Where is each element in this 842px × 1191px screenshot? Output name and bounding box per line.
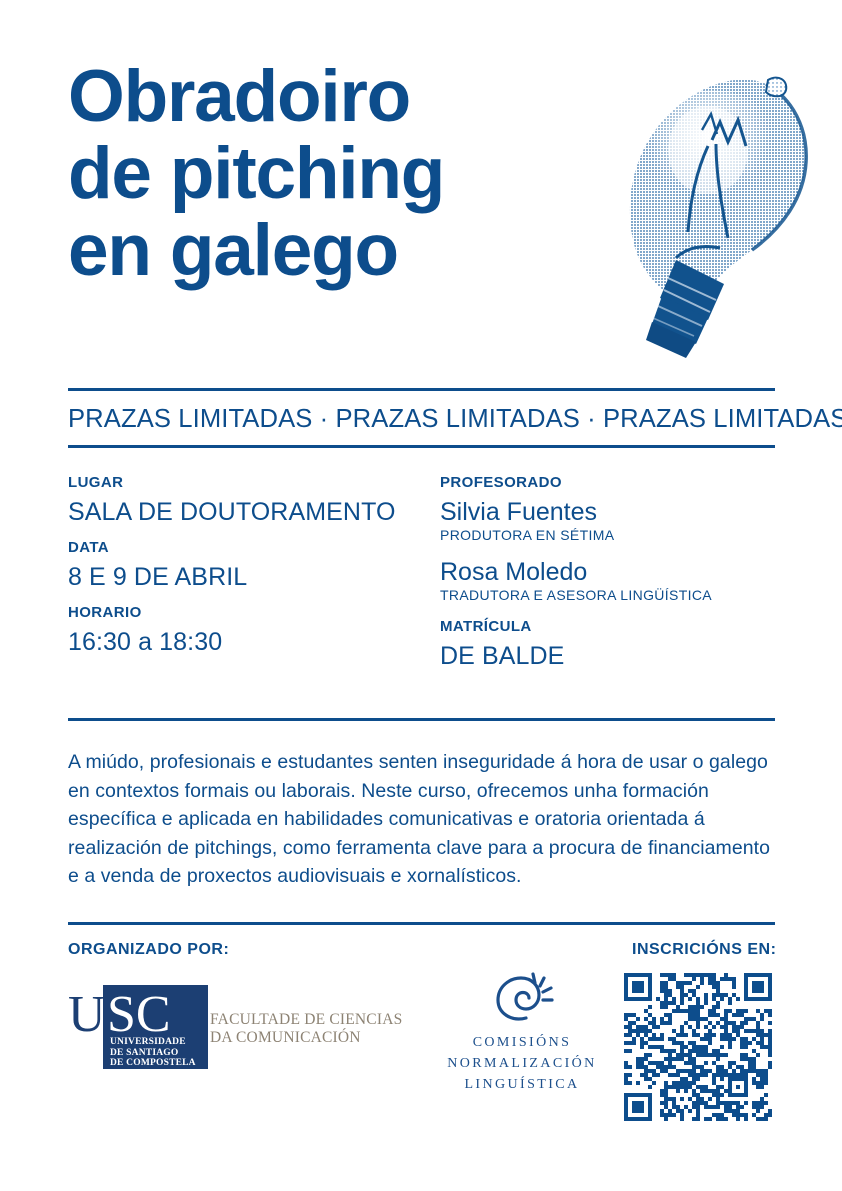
- usc-logo: U SC UNIVERSIDADE DE SANTIAGO DE COMPOST…: [68, 985, 208, 1069]
- divider-top: [68, 388, 775, 391]
- usc-logo-box: SC UNIVERSIDADE DE SANTIAGO DE COMPOSTEL…: [103, 985, 208, 1069]
- description-paragraph: A miúdo, profesionais e estudantes sente…: [68, 748, 780, 891]
- cnl-logo: COMISIÓNS NORMALIZACIÓN LINGUÍSTICA: [432, 968, 612, 1093]
- spiral-rays-icon: [489, 968, 555, 1030]
- title-line-3: en galego: [68, 212, 628, 289]
- teacher-name-2: Rosa Moledo: [440, 558, 780, 586]
- divider-above-description: [68, 718, 775, 721]
- faculty-line-2: DA COMUNICACIÓN: [210, 1029, 430, 1047]
- details-right-column: PROFESORADO Silvia Fuentes PRODUTORA EN …: [440, 474, 780, 671]
- teacher-role-1: PRODUTORA EN SÉTIMA: [440, 526, 780, 544]
- divider-under-banner: [68, 445, 775, 448]
- title-line-1: Obradoiro: [68, 58, 628, 135]
- cnl-line-2: NORMALIZACIÓN: [432, 1055, 612, 1072]
- faculty-name: FACULTADE DE CIENCIAS DA COMUNICACIÓN: [210, 1011, 430, 1047]
- value-lugar: SALA DE DOUTORAMENTO: [68, 498, 440, 527]
- usc-sub-line-2: DE SANTIAGO: [110, 1048, 208, 1059]
- organized-by-label: ORGANIZADO POR:: [68, 941, 229, 959]
- teacher-role-2: TRADUTORA E ASESORA LINGÜÍSTICA: [440, 586, 780, 604]
- value-horario: 16:30 a 18:30: [68, 628, 440, 657]
- value-data: 8 E 9 DE ABRIL: [68, 563, 440, 592]
- usc-sub-line-3: DE COMPOSTELA: [110, 1058, 208, 1069]
- lightbulb-icon: [616, 62, 826, 362]
- label-matricula: MATRÍCULA: [440, 618, 780, 636]
- limited-places-banner: PRAZAS LIMITADAS · PRAZAS LIMITADAS · PR…: [68, 403, 769, 433]
- cnl-line-3: LINGUÍSTICA: [432, 1076, 612, 1093]
- lightbulb-illustration: [616, 62, 826, 362]
- divider-above-footer: [68, 922, 775, 925]
- event-details: LUGAR SALA DE DOUTORAMENTO DATA 8 E 9 DE…: [68, 474, 780, 671]
- usc-sub-line-1: UNIVERSIDADE: [110, 1037, 208, 1048]
- label-lugar: LUGAR: [68, 474, 440, 492]
- qr-code-icon[interactable]: [624, 973, 772, 1121]
- page-title: Obradoiro de pitching en galego: [68, 58, 628, 289]
- title-line-2: de pitching: [68, 135, 628, 212]
- registration-qr-code[interactable]: [624, 973, 772, 1121]
- faculty-line-1: FACULTADE DE CIENCIAS: [210, 1011, 430, 1029]
- value-matricula: DE BALDE: [440, 642, 780, 671]
- usc-logo-subtitle: UNIVERSIDADE DE SANTIAGO DE COMPOSTELA: [110, 1037, 208, 1069]
- registration-label: INSCRICIÓNS EN:: [632, 941, 776, 959]
- teacher-name-1: Silvia Fuentes: [440, 498, 780, 526]
- label-data: DATA: [68, 539, 440, 557]
- poster-root: Obradoiro de pitching en galego: [0, 0, 842, 1191]
- cnl-line-1: COMISIÓNS: [432, 1034, 612, 1051]
- label-horario: HORARIO: [68, 604, 440, 622]
- label-profesorado: PROFESORADO: [440, 474, 780, 492]
- usc-logo-sc: SC: [107, 989, 171, 1041]
- usc-logo-u: U: [68, 989, 106, 1041]
- details-left-column: LUGAR SALA DE DOUTORAMENTO DATA 8 E 9 DE…: [68, 474, 440, 671]
